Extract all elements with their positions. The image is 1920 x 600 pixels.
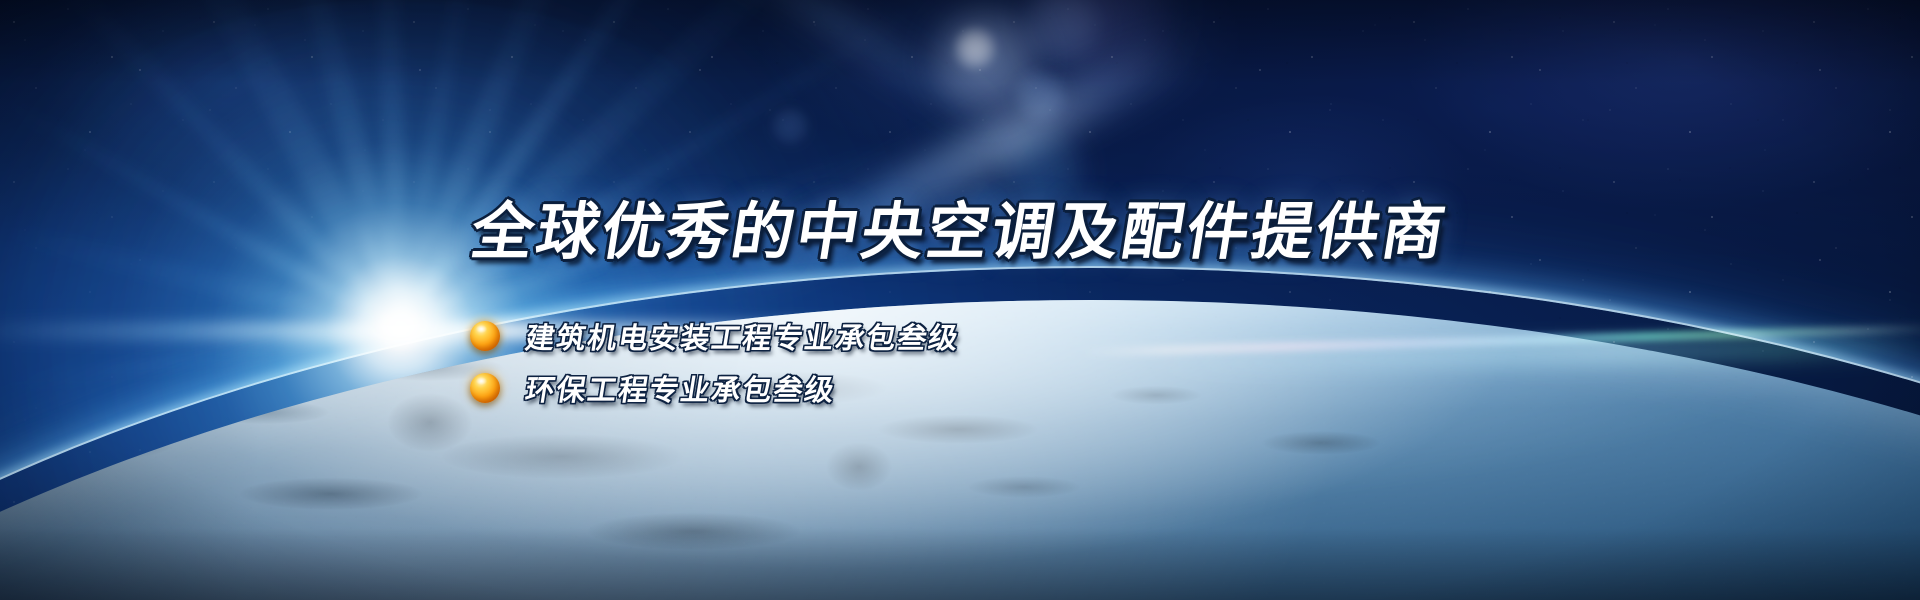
gold-sphere-bullet-icon xyxy=(470,321,500,351)
qualification-list: 建筑机电安装工程专业承包叁级 环保工程专业承包叁级 xyxy=(470,310,960,414)
gold-sphere-bullet-icon xyxy=(470,373,500,403)
list-item-label: 环保工程专业承包叁级 xyxy=(523,367,840,409)
list-item: 建筑机电安装工程专业承包叁级 xyxy=(470,310,960,362)
hero-banner: 全球优秀的中央空调及配件提供商 建筑机电安装工程专业承包叁级 环保工程专业承包叁… xyxy=(0,0,1920,600)
headline-container: 全球优秀的中央空调及配件提供商 xyxy=(0,196,1920,269)
page-title: 全球优秀的中央空调及配件提供商 xyxy=(467,196,1454,269)
list-item: 环保工程专业承包叁级 xyxy=(470,362,960,414)
list-item-label: 建筑机电安装工程专业承包叁级 xyxy=(523,315,964,357)
